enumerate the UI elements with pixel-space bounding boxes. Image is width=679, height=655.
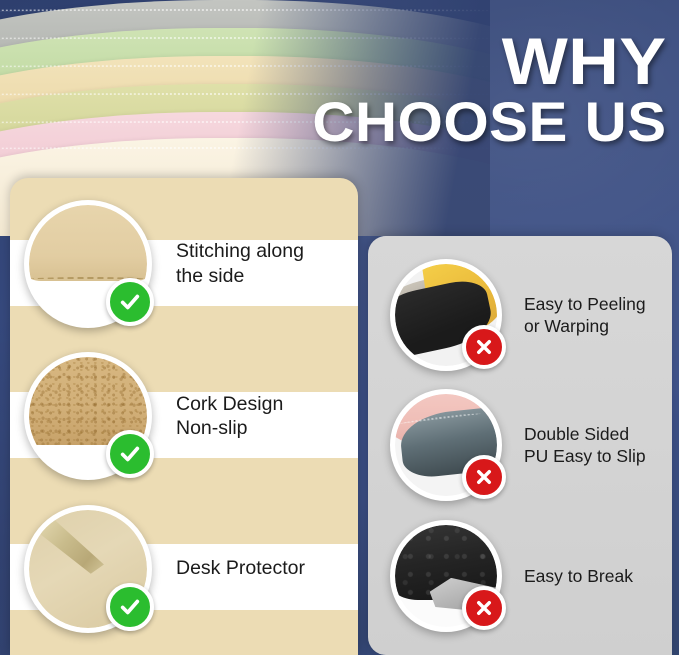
pros-list: Stitching along the side bbox=[10, 178, 358, 655]
cons-label-1-line2: or Warping bbox=[524, 315, 646, 337]
pros-label-3: Desk Protector bbox=[176, 556, 305, 581]
pros-label-2-line2: Non-slip bbox=[176, 416, 283, 441]
cons-label-3-line1: Easy to Break bbox=[524, 565, 633, 587]
pros-label-2: Cork Design Non-slip bbox=[176, 392, 283, 442]
check-icon bbox=[106, 278, 154, 326]
pros-label-3-line1: Desk Protector bbox=[176, 556, 305, 581]
infographic-canvas: WHY CHOOSE US bbox=[0, 0, 679, 655]
cons-item-peeling: Easy to Peeling or Warping bbox=[368, 259, 672, 371]
cons-item-break: Easy to Break bbox=[368, 520, 672, 632]
pros-thumb-wrap-1 bbox=[24, 200, 152, 328]
cons-label-2-line2: PU Easy to Slip bbox=[524, 445, 646, 467]
cross-icon bbox=[462, 586, 506, 630]
cons-label-2-line1: Double Sided bbox=[524, 423, 646, 445]
cons-thumb-wrap-1 bbox=[390, 259, 502, 371]
pros-label-1-line2: the side bbox=[176, 264, 304, 289]
check-icon bbox=[106, 583, 154, 631]
pros-item-stitching: Stitching along the side bbox=[10, 200, 358, 328]
pros-label-1: Stitching along the side bbox=[176, 239, 304, 289]
cons-thumb-wrap-2 bbox=[390, 389, 502, 501]
cons-list: Easy to Peeling or Warping bbox=[368, 236, 672, 655]
page-title: WHY CHOOSE US bbox=[326, 30, 667, 149]
pros-thumb-wrap-2 bbox=[24, 352, 152, 480]
cons-card: Easy to Peeling or Warping bbox=[368, 236, 672, 655]
cons-label-3: Easy to Break bbox=[524, 565, 633, 587]
cross-icon bbox=[462, 325, 506, 369]
pros-label-1-line1: Stitching along bbox=[176, 239, 304, 264]
cons-label-1: Easy to Peeling or Warping bbox=[524, 293, 646, 338]
pros-item-desk-protector: Desk Protector bbox=[10, 505, 358, 633]
cons-label-1-line1: Easy to Peeling bbox=[524, 293, 646, 315]
cons-label-2: Double Sided PU Easy to Slip bbox=[524, 423, 646, 468]
title-line-choose-us: CHOOSE US bbox=[313, 96, 667, 149]
cons-thumb-wrap-3 bbox=[390, 520, 502, 632]
cons-item-double-sided: Double Sided PU Easy to Slip bbox=[368, 389, 672, 501]
cross-icon bbox=[462, 455, 506, 499]
pros-thumb-wrap-3 bbox=[24, 505, 152, 633]
pros-item-cork: Cork Design Non-slip bbox=[10, 352, 358, 480]
title-line-why: WHY bbox=[306, 30, 667, 92]
pros-label-2-line1: Cork Design bbox=[176, 392, 283, 417]
pros-card: Stitching along the side bbox=[10, 178, 358, 655]
